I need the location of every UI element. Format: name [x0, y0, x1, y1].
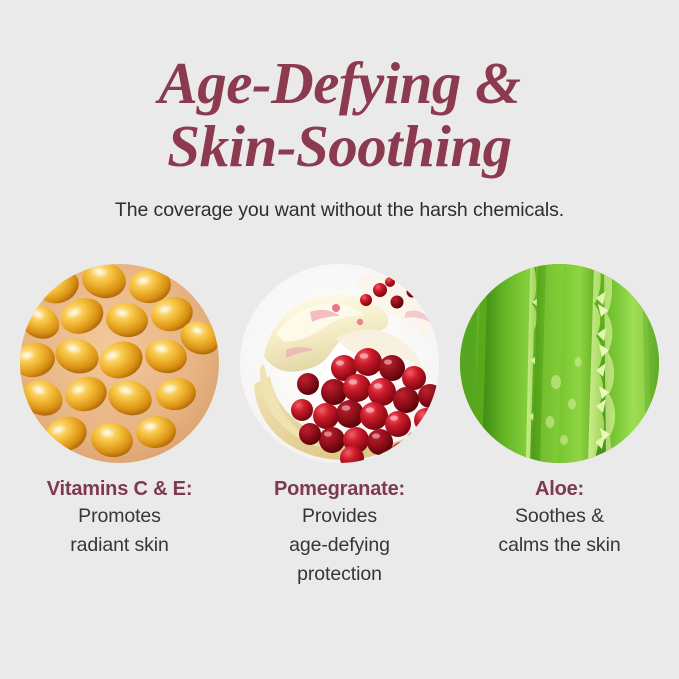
description-line-1: Provides — [235, 502, 445, 531]
ingredient-list: Vitamins C & E: Promotes radiant skin — [0, 264, 679, 589]
description-line-2: age-defying — [235, 531, 445, 560]
ingredient-description: Provides age-defying protection — [235, 502, 445, 589]
description-line-3: protection — [235, 560, 445, 589]
description-line-2: radiant skin — [15, 531, 225, 560]
ingredient-title: Aloe: — [455, 477, 665, 502]
ingredient-infographic: Age-Defying & Skin-Soothing The coverage… — [0, 0, 679, 679]
headline-line-1: Age-Defying & — [0, 52, 679, 115]
headline-line-2: Skin-Soothing — [0, 115, 679, 178]
ingredient-caption: Pomegranate: Provides age-defying protec… — [235, 477, 445, 589]
description-line-1: Promotes — [15, 502, 225, 531]
subtitle: The coverage you want without the harsh … — [115, 198, 564, 222]
ingredient-caption: Aloe: Soothes & calms the skin — [455, 477, 665, 560]
ingredient-title: Vitamins C & E: — [15, 477, 225, 502]
pomegranate-photo — [240, 264, 439, 463]
ingredient-caption: Vitamins C & E: Promotes radiant skin — [15, 477, 225, 560]
page-title: Age-Defying & Skin-Soothing — [0, 52, 679, 178]
ingredient-item-vitamins: Vitamins C & E: Promotes radiant skin — [19, 264, 220, 560]
ingredient-item-pomegranate: Pomegranate: Provides age-defying protec… — [239, 264, 440, 589]
aloe-vera-leaves-photo — [460, 264, 659, 463]
ingredient-item-aloe: Aloe: Soothes & calms the skin — [459, 264, 660, 560]
description-line-1: Soothes & — [455, 502, 665, 531]
ingredient-description: Soothes & calms the skin — [455, 502, 665, 560]
vitamin-softgel-capsules-photo — [20, 264, 219, 463]
ingredient-description: Promotes radiant skin — [15, 502, 225, 560]
description-line-2: calms the skin — [455, 531, 665, 560]
ingredient-title: Pomegranate: — [235, 477, 445, 502]
